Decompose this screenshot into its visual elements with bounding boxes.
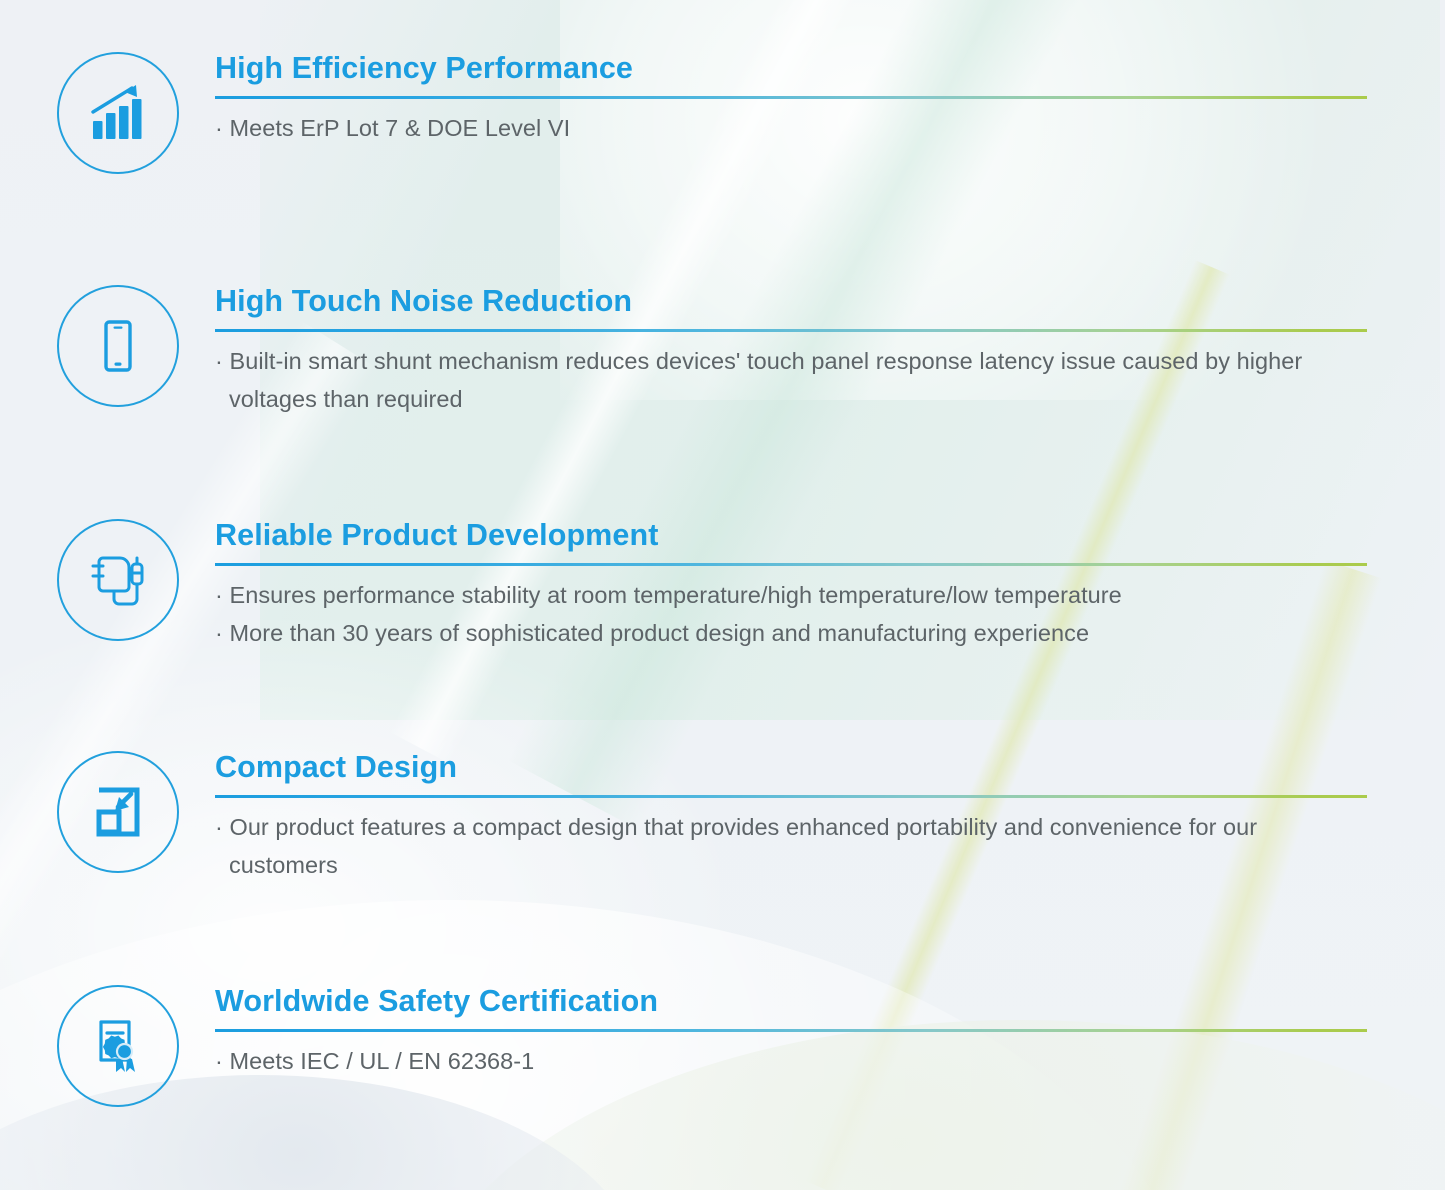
feature-description: · Ensures performance stability at room … — [215, 576, 1367, 652]
bullet-marker: · — [215, 115, 223, 141]
feature-title: High Touch Noise Reduction — [215, 285, 1367, 318]
feature-icon-circle — [57, 52, 179, 174]
bullet-marker: · — [215, 582, 223, 608]
feature-icon-circle — [57, 285, 179, 407]
certificate-seal-icon — [86, 1014, 150, 1078]
feature-description: · Built-in smart shunt mechanism reduces… — [215, 342, 1367, 418]
feature-icon-circle — [57, 519, 179, 641]
feature-icon-circle — [57, 985, 179, 1107]
feature-divider — [215, 795, 1367, 798]
feature-description: · Our product features a compact design … — [215, 808, 1367, 884]
feature-content: Reliable Product Development · Ensures p… — [215, 519, 1445, 652]
feature-title: Worldwide Safety Certification — [215, 985, 1367, 1018]
feature-description: · Meets IEC / UL / EN 62368-1 — [215, 1042, 1367, 1080]
feature-bullet-text: Our product features a compact design th… — [229, 814, 1257, 878]
growth-bar-chart-icon — [84, 79, 152, 147]
feature-bullet-line: · Meets ErP Lot 7 & DOE Level VI — [215, 109, 1367, 147]
feature-description: · Meets ErP Lot 7 & DOE Level VI — [215, 109, 1367, 147]
feature-divider — [215, 329, 1367, 332]
feature-content: Compact Design · Our product features a … — [215, 751, 1445, 884]
feature-item-high-touch-noise-reduction: High Touch Noise Reduction · Built-in sm… — [0, 285, 1445, 418]
feature-bullet-text: Meets IEC / UL / EN 62368-1 — [229, 1048, 534, 1074]
smartphone-icon — [87, 315, 149, 377]
feature-content: High Efficiency Performance · Meets ErP … — [215, 52, 1445, 147]
feature-item-reliable-product-development: Reliable Product Development · Ensures p… — [0, 519, 1445, 652]
feature-bullet-line: · More than 30 years of sophisticated pr… — [215, 614, 1367, 652]
feature-highlights-page: High Efficiency Performance · Meets ErP … — [0, 0, 1445, 1190]
feature-item-worldwide-safety-certification: Worldwide Safety Certification · Meets I… — [0, 985, 1445, 1107]
feature-bullet-text: Meets ErP Lot 7 & DOE Level VI — [229, 115, 570, 141]
bullet-marker: · — [215, 1048, 223, 1074]
feature-bullet-text: Ensures performance stability at room te… — [229, 582, 1121, 608]
feature-bullet-text: Built-in smart shunt mechanism reduces d… — [229, 348, 1302, 412]
feature-divider — [215, 1029, 1367, 1032]
feature-bullet-line: · Our product features a compact design … — [215, 808, 1367, 884]
feature-bullet-line: · Meets IEC / UL / EN 62368-1 — [215, 1042, 1367, 1080]
feature-title: High Efficiency Performance — [215, 52, 1367, 85]
feature-divider — [215, 563, 1367, 566]
feature-bullet-line: · Ensures performance stability at room … — [215, 576, 1367, 614]
bullet-marker: · — [215, 814, 223, 840]
feature-title: Compact Design — [215, 751, 1367, 784]
feature-item-high-efficiency-performance: High Efficiency Performance · Meets ErP … — [0, 52, 1445, 174]
feature-content: Worldwide Safety Certification · Meets I… — [215, 985, 1445, 1080]
feature-content: High Touch Noise Reduction · Built-in sm… — [215, 285, 1445, 418]
feature-item-compact-design: Compact Design · Our product features a … — [0, 751, 1445, 884]
bullet-marker: · — [215, 348, 223, 374]
feature-bullet-text: More than 30 years of sophisticated prod… — [229, 620, 1089, 646]
power-adapter-icon — [84, 546, 152, 614]
feature-title: Reliable Product Development — [215, 519, 1367, 552]
bullet-marker: · — [215, 620, 223, 646]
feature-bullet-line: · Built-in smart shunt mechanism reduces… — [215, 342, 1367, 418]
feature-divider — [215, 96, 1367, 99]
compact-resize-icon — [87, 781, 149, 843]
feature-icon-circle — [57, 751, 179, 873]
